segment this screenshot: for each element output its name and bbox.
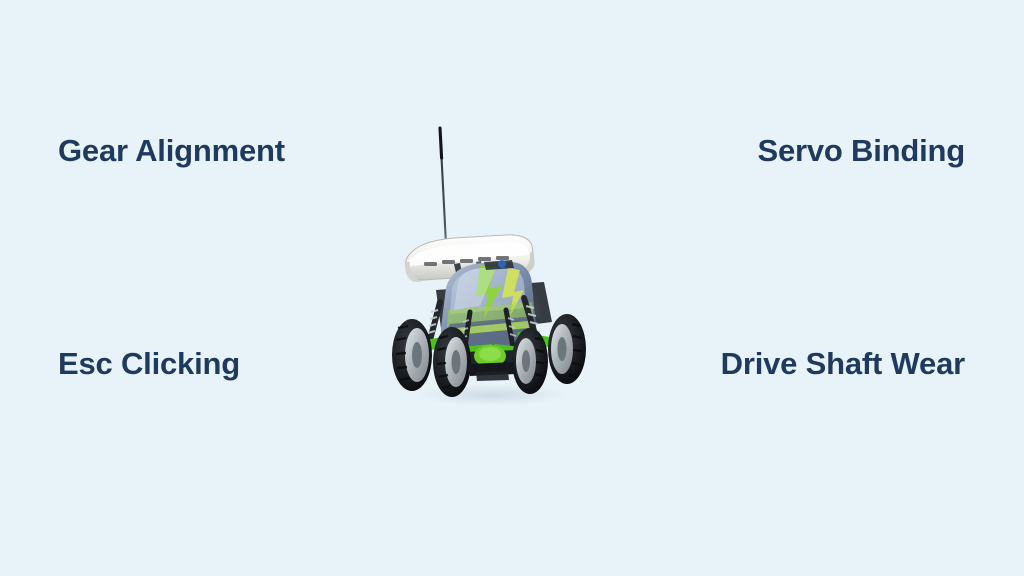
wheel-front-right [512, 328, 548, 394]
label-esc-clicking: Esc Clicking [58, 344, 240, 385]
wheel-front-left [433, 327, 471, 397]
rc-buggy-photo [384, 112, 596, 404]
wheel-rear-right [548, 314, 586, 384]
wheel-rear-left [392, 319, 432, 391]
slide-canvas: Gear Alignment Servo Binding Esc Clickin… [0, 0, 1024, 576]
rc-buggy-illustration [384, 112, 596, 404]
label-gear-alignment: Gear Alignment [58, 131, 285, 172]
label-drive-shaft-wear: Drive Shaft Wear [665, 344, 965, 385]
label-servo-binding: Servo Binding [757, 131, 965, 172]
